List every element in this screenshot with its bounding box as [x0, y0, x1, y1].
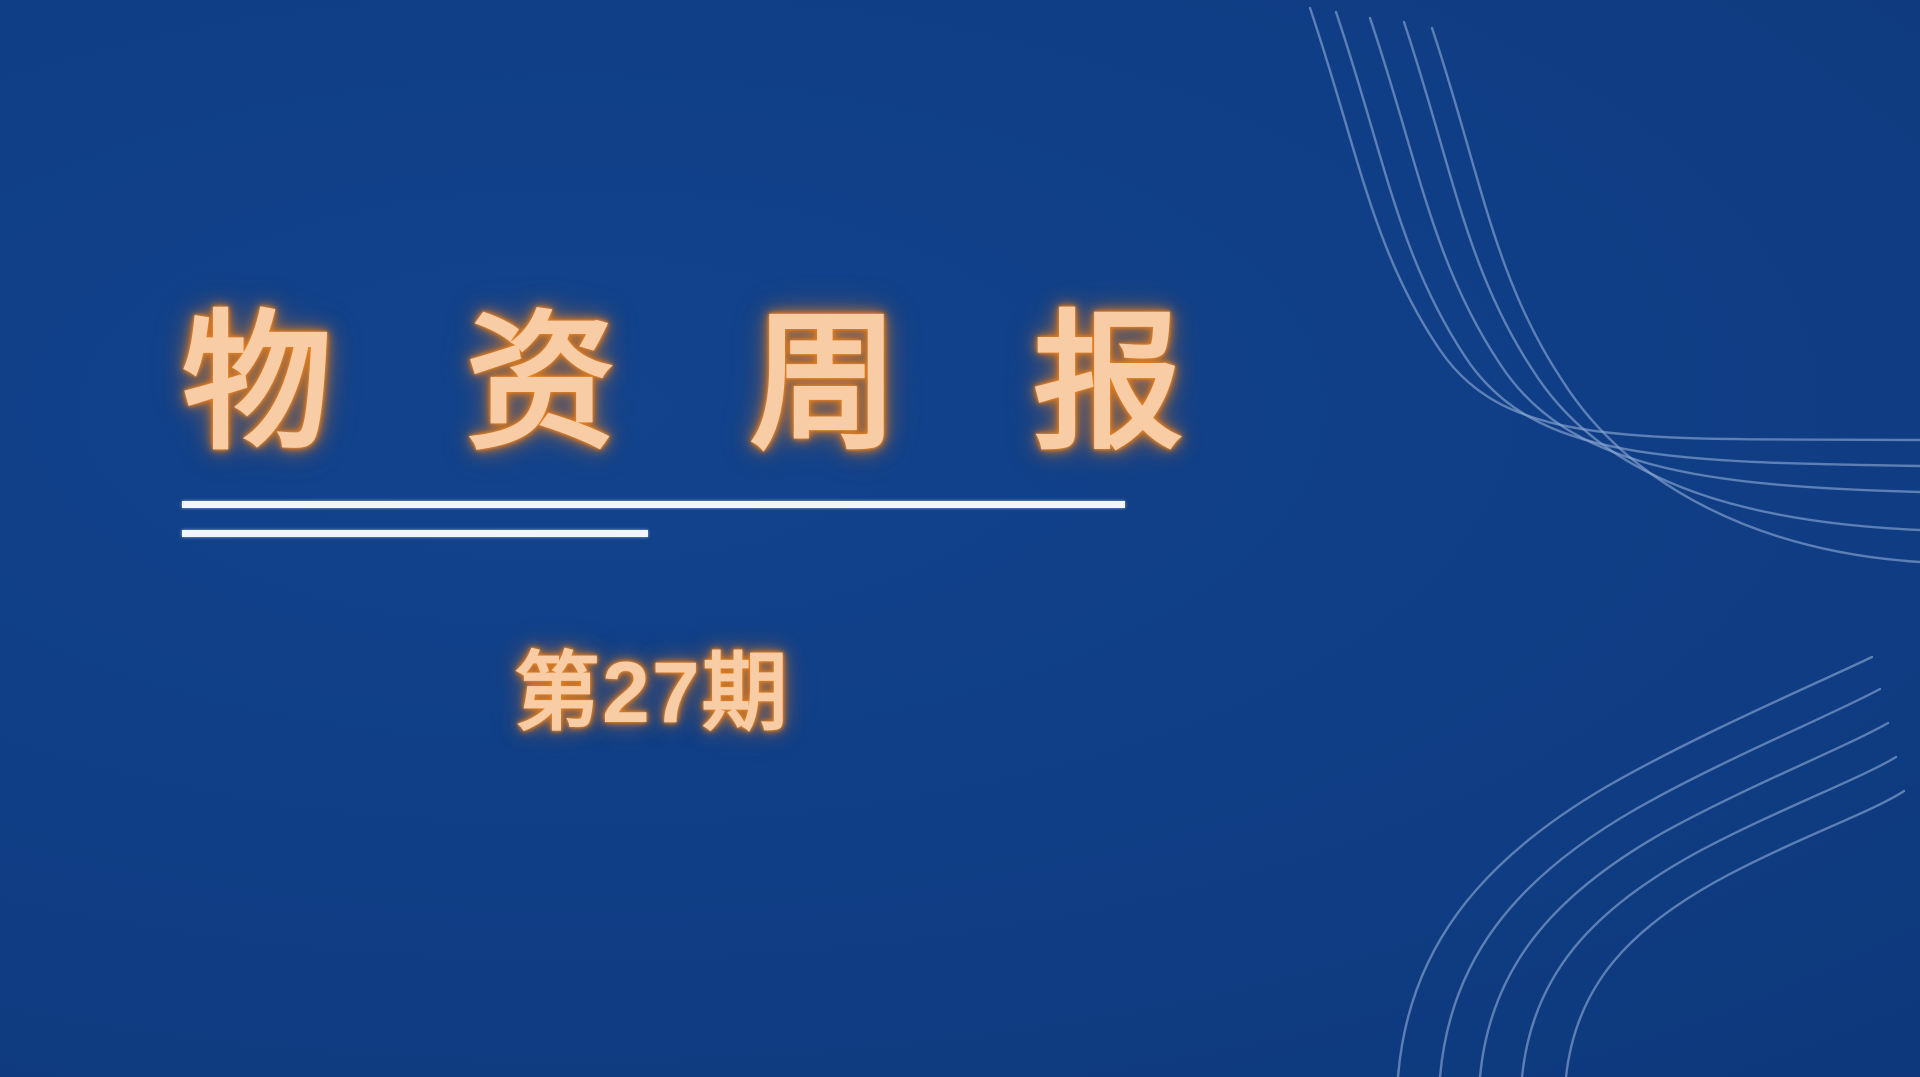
slide-background	[0, 0, 1920, 1077]
title-underline-long	[182, 501, 1125, 508]
wave-lines-bottom-right-icon	[1280, 617, 1920, 1077]
title-underline-short	[182, 530, 648, 537]
title-slide: 物 资 周 报 第27期	[0, 0, 1920, 1077]
wave-lines-top-right-icon	[1280, 0, 1920, 600]
title-block: 物 资 周 报	[182, 296, 1182, 470]
page-title: 物 资 周 报	[182, 296, 1182, 470]
issue-subtitle: 第27期	[514, 642, 790, 745]
